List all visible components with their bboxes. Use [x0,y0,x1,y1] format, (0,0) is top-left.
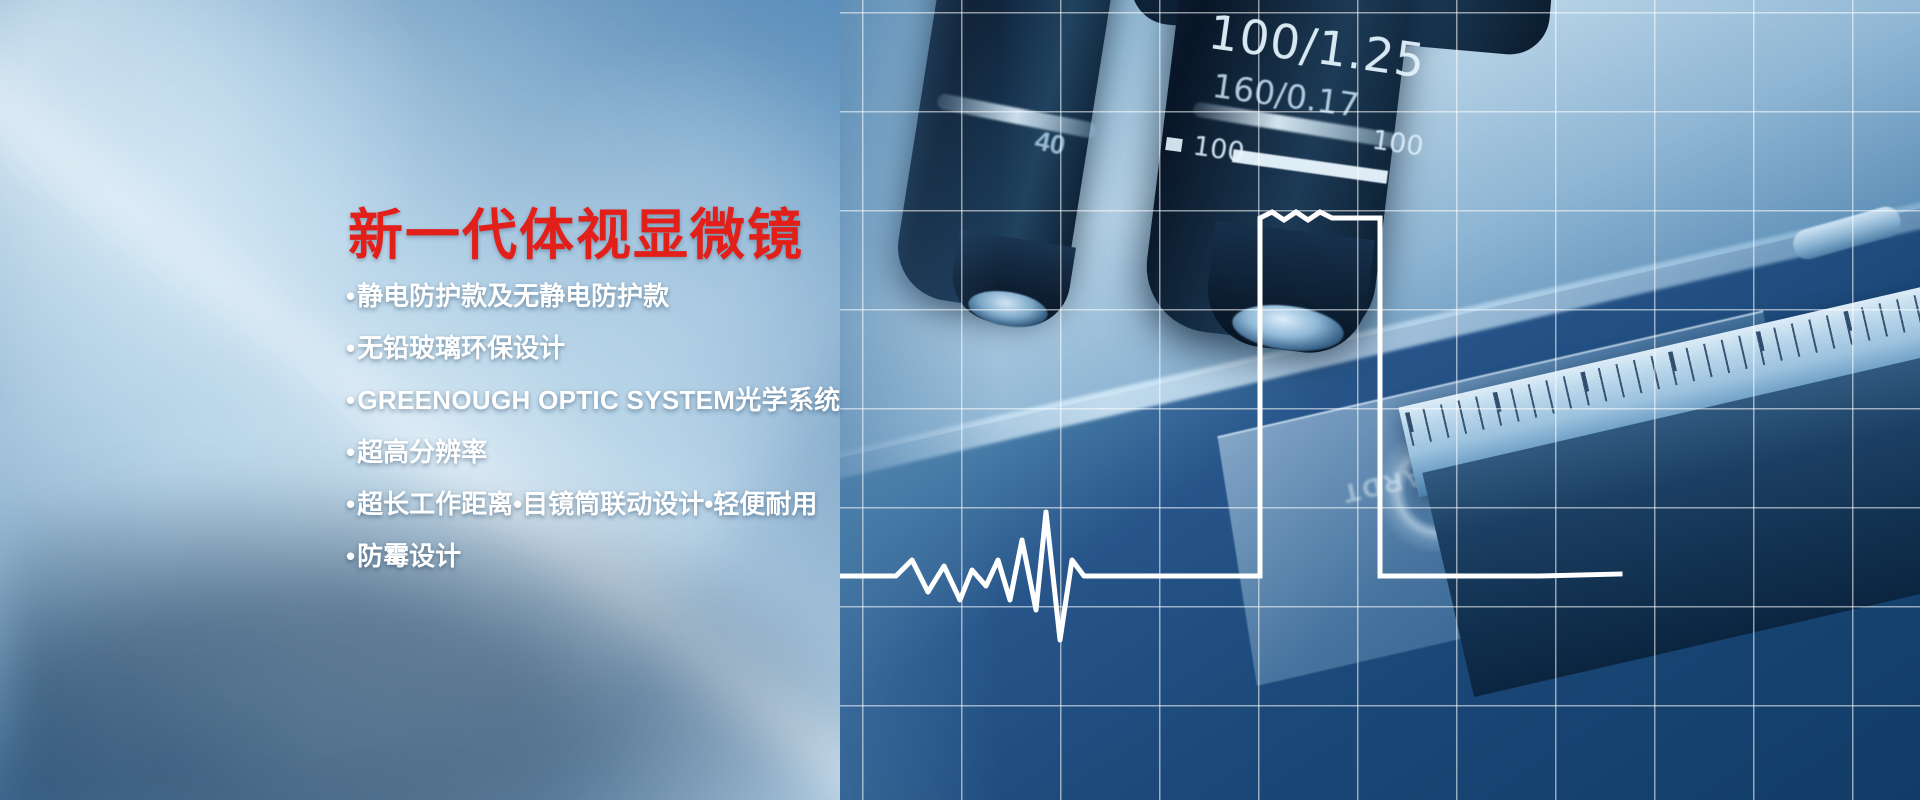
list-item: •超长工作距离•目镜筒联动设计•轻便耐用 [346,491,966,517]
bullet-marker: • [346,281,355,311]
bullet-marker: • [346,437,355,467]
bullet-marker: • [346,333,355,363]
bullet-marker: • [346,489,355,519]
objective-left-magnification-label: 40 [1032,125,1068,162]
microscope-photo: POLLA GUARDT 40 100/1.25 160/0.17 100 10… [840,0,1920,800]
bullet-text: 超长工作距离•目镜筒联动设计•轻便耐用 [357,489,817,519]
text-content: 新一代体视显微镜 •静电防护款及无静电防护款 •无铅玻璃环保设计 •GREENO… [0,0,900,800]
bullet-text: GREENOUGH OPTIC SYSTEM光学系统 [357,385,840,415]
page-title: 新一代体视显微镜 [348,190,804,270]
bullet-text: 无铅玻璃环保设计 [357,333,565,363]
feature-list: •静电防护款及无静电防护款 •无铅玻璃环保设计 •GREENOUGH OPTIC… [346,283,966,595]
list-item: •无铅玻璃环保设计 [346,335,966,361]
bullet-marker: • [346,541,355,571]
objective-right-index-mark [1165,137,1183,152]
bullet-text: 静电防护款及无静电防护款 [357,281,669,311]
list-item: •静电防护款及无静电防护款 [346,283,966,309]
bullet-text: 超高分辨率 [357,437,487,467]
microscope-product-banner: POLLA GUARDT 40 100/1.25 160/0.17 100 10… [0,0,1920,800]
bullet-marker: • [346,385,355,415]
list-item: •GREENOUGH OPTIC SYSTEM光学系统 [346,387,966,413]
list-item: •防霉设计 [346,543,966,569]
bullet-text: 防霉设计 [357,541,461,571]
list-item: •超高分辨率 [346,439,966,465]
